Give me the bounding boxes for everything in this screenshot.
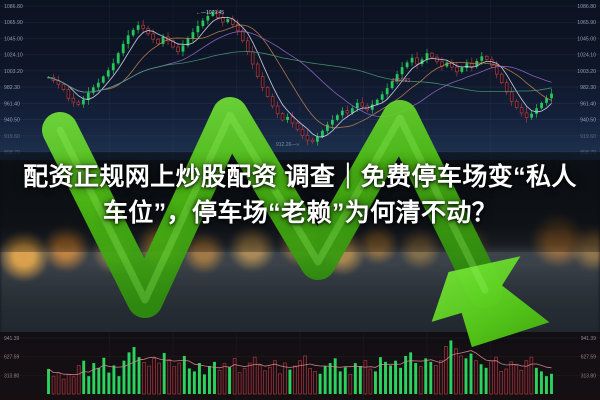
volume-bar [218, 370, 221, 394]
volume-bar [258, 365, 261, 394]
volume-bar [82, 361, 85, 394]
volume-bar [454, 349, 457, 394]
volume-bar [424, 358, 427, 394]
candle-body [465, 63, 468, 68]
volume-bar [138, 357, 141, 394]
volume-bar [97, 368, 100, 394]
volume-bar [143, 362, 146, 394]
candle-body [62, 84, 65, 89]
volume-bar [419, 367, 422, 394]
candle-body [157, 39, 160, 44]
volume-bar [465, 358, 468, 394]
candle-body [455, 67, 458, 72]
volume-bar [399, 368, 402, 394]
candle-body [177, 47, 180, 52]
price-y-tick-right-3: 1024.10 [577, 53, 596, 59]
candle-body [331, 120, 334, 125]
volume-bar [444, 346, 447, 394]
volume-bar [480, 364, 483, 394]
candle-body [510, 92, 513, 101]
price-y-tick-right-7: 940.50 [580, 118, 596, 124]
candle-body [67, 90, 70, 99]
price-y-tick-right-2: 1045.00 [577, 36, 596, 42]
volume-bar [540, 371, 543, 394]
volume-bar [193, 371, 196, 394]
volume-bar [62, 379, 65, 394]
volume-bar [87, 376, 90, 394]
volume-bar [198, 363, 201, 394]
volume-bar [268, 367, 271, 394]
candle-body [460, 68, 463, 72]
volume-bar [178, 363, 181, 394]
price-annotation-high: ←—1079.45 [196, 10, 224, 16]
candle-body [127, 35, 130, 44]
candle-body [361, 103, 364, 106]
volume-bar [72, 377, 75, 394]
volume-bar [520, 370, 523, 394]
volume-bar [148, 366, 151, 394]
candle-body [346, 111, 349, 113]
candle-body [152, 34, 155, 39]
volume-bar [485, 368, 488, 394]
price-y-tick-right-4: 1003.20 [577, 69, 596, 75]
candle-body [112, 63, 115, 70]
candle-body [192, 32, 195, 38]
candle-body [480, 56, 483, 61]
candle-body [82, 100, 85, 105]
volume-bar [394, 361, 397, 394]
volume-bar [304, 356, 307, 394]
price-chart-panel: 1086.801086.801065.901065.901045.001045.… [0, 0, 600, 160]
candle-body [107, 70, 110, 76]
candle-body [271, 97, 274, 106]
volume-bar [545, 376, 548, 394]
volume-bar [253, 357, 256, 394]
volume-bar [319, 374, 322, 394]
candle-body [371, 104, 374, 109]
volume-y-tick-left-0: 941.39 [4, 336, 20, 342]
volume-chart-panel: 941.39941.39627.59627.59313.80313.80 [0, 332, 600, 400]
price-y-tick-left-4: 1003.20 [4, 69, 23, 75]
volume-bar [329, 363, 332, 394]
volume-bar [52, 376, 55, 394]
price-annotation-low: 912.26—» [276, 142, 299, 148]
volume-bar [183, 356, 186, 394]
volume-bar [238, 373, 241, 394]
volume-bar [384, 362, 387, 394]
price-annotation-mid: 1066.93 [392, 78, 410, 84]
candle-body [276, 106, 279, 114]
price-y-tick-left-2: 1045.00 [4, 36, 23, 42]
candle-body [256, 64, 259, 76]
stock-chart-news-banner: 1086.801086.801065.901065.901045.001045.… [0, 0, 600, 400]
candle-body [505, 83, 508, 92]
headline-line-1: 配资正规网上炒股配资 调查｜免费停车场变“私人 [23, 163, 577, 191]
candle-body [261, 76, 264, 87]
price-y-tick-right-1: 1065.90 [577, 20, 596, 26]
volume-bar [369, 369, 372, 394]
volume-bar [389, 365, 392, 394]
volume-bar [344, 367, 347, 394]
candle-body [540, 103, 543, 108]
candle-body [336, 115, 339, 120]
candle-body [401, 67, 404, 74]
candle-body [122, 44, 125, 53]
volume-bar [47, 369, 50, 394]
volume-bar [510, 362, 513, 394]
volume-bar [223, 364, 226, 394]
candle-body [197, 26, 200, 32]
volume-bar [153, 358, 156, 394]
volume-bar [374, 371, 377, 394]
volume-bar [354, 363, 357, 394]
candle-body [206, 16, 209, 21]
candle-body [266, 87, 269, 96]
volume-bar [92, 363, 95, 394]
volume-bar [288, 370, 291, 394]
volume-bar [263, 371, 266, 394]
volume-bar [128, 352, 131, 394]
candle-body [246, 41, 249, 52]
candle-body [72, 98, 75, 102]
volume-bar [429, 362, 432, 394]
candle-body [550, 94, 553, 99]
candle-body [97, 83, 100, 88]
volume-bar-chart: 941.39941.39627.59627.59313.80313.80 [0, 332, 600, 400]
price-y-tick-right-5: 982.30 [580, 85, 596, 91]
candle-body [77, 102, 80, 104]
candle-body [426, 53, 429, 59]
candle-body [416, 58, 419, 64]
volume-bar [233, 358, 236, 394]
candle-body [182, 45, 185, 51]
candle-body [500, 74, 503, 83]
volume-bar [173, 367, 176, 394]
volume-bar [278, 374, 281, 394]
candle-body [341, 111, 344, 116]
volume-bar [273, 361, 276, 394]
candle-body [306, 135, 309, 140]
candle-body [406, 63, 409, 68]
price-y-tick-right-8: 919.60 [580, 134, 596, 140]
candle-body [251, 52, 254, 64]
candle-body [142, 25, 145, 28]
candle-body [515, 101, 518, 107]
volume-bar [117, 376, 120, 394]
candle-body [535, 108, 538, 113]
volume-bar [364, 361, 367, 394]
candle-body [117, 53, 120, 63]
volume-bar [102, 358, 105, 394]
volume-bar [248, 363, 251, 394]
volume-bar [309, 368, 312, 394]
price-y-tick-left-7: 940.50 [4, 118, 20, 124]
volume-bar [535, 368, 538, 394]
volume-bar [414, 363, 417, 394]
candle-body [281, 114, 284, 120]
volume-bar [168, 359, 171, 394]
volume-bar [470, 354, 473, 394]
volume-bar [434, 365, 437, 394]
volume-bar [409, 352, 412, 394]
price-y-tick-left-6: 961.40 [4, 101, 20, 107]
candle-body [525, 113, 528, 118]
volume-bar [203, 374, 206, 394]
candle-body [296, 123, 299, 129]
background-sheen [0, 248, 600, 312]
volume-bar [505, 369, 508, 394]
volume-bar [243, 368, 246, 394]
candle-body [286, 117, 289, 120]
volume-bar [208, 366, 211, 394]
candle-body [102, 76, 105, 82]
candle-body [241, 31, 244, 41]
volume-bar [439, 361, 442, 394]
volume-bar [349, 374, 352, 394]
candle-body [411, 58, 414, 63]
volume-bar [449, 340, 452, 394]
volume-bar [213, 362, 216, 394]
price-y-tick-left-8: 919.60 [4, 134, 20, 140]
volume-bar [123, 361, 126, 394]
candle-body [291, 117, 294, 123]
volume-bar [359, 366, 362, 394]
volume-y-tick-right-0: 941.39 [581, 336, 597, 342]
price-y-tick-left-5: 982.30 [4, 85, 20, 91]
headline-text: 配资正规网上炒股配资 调查｜免费停车场变“私人 车位”，停车场“老赖”为何清不动… [0, 160, 600, 231]
volume-bar [495, 357, 498, 394]
volume-bar [133, 347, 136, 394]
price-y-tick-left-0: 1086.80 [4, 4, 23, 10]
volume-bar [550, 374, 553, 394]
volume-bar [67, 374, 70, 394]
candle-body [226, 19, 229, 22]
volume-bar [294, 366, 297, 394]
candle-body [381, 94, 384, 99]
volume-bar [530, 357, 533, 394]
volume-bar [188, 368, 191, 394]
volume-bar [475, 361, 478, 394]
price-y-tick-right-0: 1086.80 [577, 4, 596, 10]
volume-y-tick-left-2: 313.80 [4, 373, 20, 379]
price-y-tick-left-3: 1024.10 [4, 53, 23, 59]
volume-bar [459, 356, 462, 394]
volume-bar [77, 365, 80, 394]
volume-bar [515, 365, 518, 394]
volume-bar [283, 363, 286, 394]
candle-body [316, 137, 319, 142]
volume-bar [228, 367, 231, 394]
volume-y-tick-right-2: 313.80 [581, 373, 597, 379]
volume-bar [500, 371, 503, 394]
price-y-tick-left-1: 1065.90 [4, 20, 23, 26]
candle-body [520, 108, 523, 113]
volume-bar [57, 373, 60, 394]
candle-body [485, 56, 488, 59]
volume-bar [112, 365, 115, 394]
volume-bar [163, 353, 166, 394]
volume-bar [314, 371, 317, 394]
volume-bar [158, 363, 161, 394]
candle-body [301, 129, 304, 135]
headline-line-2: 车位”，停车场“老赖”为何清不动？ [10, 196, 590, 232]
volume-bar [324, 366, 327, 394]
price-y-tick-right-6: 961.40 [580, 101, 596, 107]
candle-body [311, 140, 314, 142]
volume-bar [334, 358, 337, 394]
volume-y-tick-right-1: 627.59 [581, 355, 597, 361]
candle-body [137, 25, 140, 30]
candle-body [132, 30, 135, 35]
volume-bar [339, 371, 342, 394]
candle-body [530, 114, 533, 118]
volume-y-tick-left-1: 627.59 [4, 355, 20, 361]
candle-body [431, 53, 434, 57]
volume-bar [379, 357, 382, 394]
candle-body [376, 100, 379, 105]
candle-body [356, 103, 359, 108]
candlestick-chart: 1086.801086.801065.901065.901045.001045.… [0, 0, 600, 160]
volume-bar [490, 361, 493, 394]
candle-body [386, 88, 389, 94]
candle-body [201, 21, 204, 26]
candle-body [326, 125, 329, 131]
volume-bar [107, 373, 110, 394]
